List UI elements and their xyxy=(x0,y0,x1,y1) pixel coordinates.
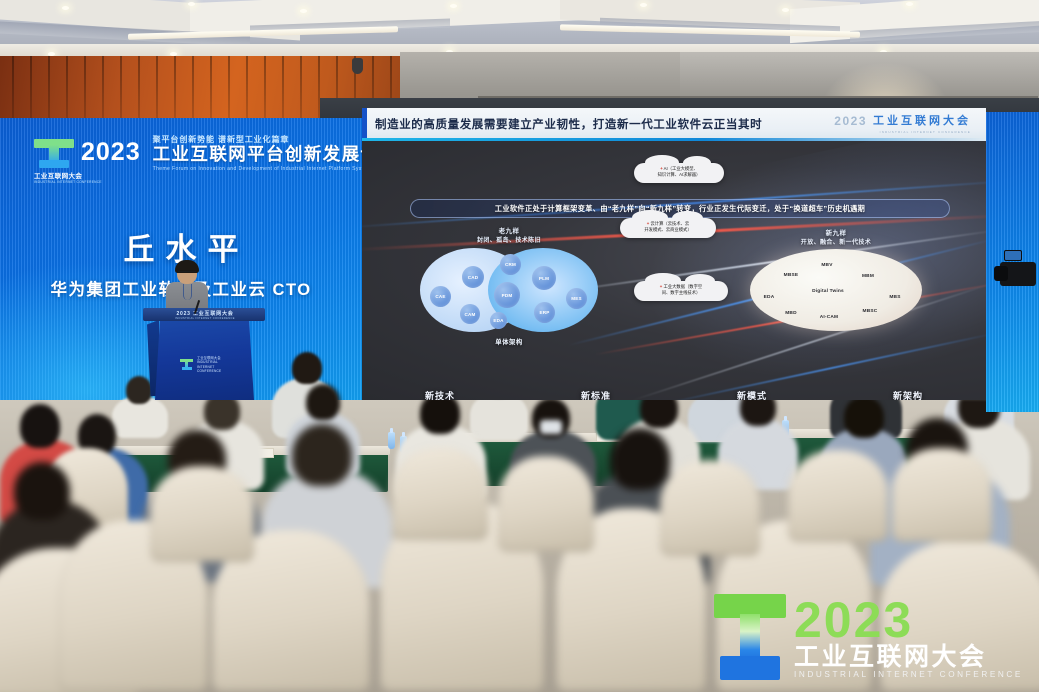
conference-watermark: 2023 工业互联网大会 INDUSTRIAL INTERNET CONFERE… xyxy=(714,594,1023,680)
bubble-plm: PLM xyxy=(532,266,556,290)
eyeglasses-icon xyxy=(178,271,196,275)
tag-digital-twins: Digital Twins xyxy=(812,289,844,295)
logo-en-text: INDUSTRIAL INTERNET CONFERENCE xyxy=(34,180,90,184)
bubble-cad: CAD xyxy=(462,266,484,288)
old-architecture-cluster: CAD CAE CAM EDA PDM CRM PLM MES ERP xyxy=(420,246,598,334)
watermark-year: 2023 xyxy=(794,598,913,642)
conference-logo-icon: 工业互联网大会 INDUSTRIAL INTERNET CONFERENCE xyxy=(34,137,74,169)
attendee-head xyxy=(306,384,340,420)
slide-logo-cn: 工业互联网大会 xyxy=(873,116,971,127)
bubble-mes: MES xyxy=(566,288,587,309)
bottom-tag-new-standard: 新标准 xyxy=(518,389,674,400)
old-architecture-label: 单体架构 xyxy=(420,337,598,346)
bubble-pdm: PDM xyxy=(494,282,520,308)
attendee-head xyxy=(844,396,884,438)
tag-mbd: MBD xyxy=(780,311,802,317)
callout-cloud-ai: + AI（工业大模型、 知识计算、AI求解器） xyxy=(634,163,724,183)
chair-back xyxy=(892,448,992,542)
chair-back xyxy=(150,466,254,562)
new-architecture-cluster: MBSE MBV MBM EDA Digital Twins MBS MBD A… xyxy=(750,249,922,331)
slide-title-bar: 制造业的高质量发展需要建立产业韧性，打造新一代工业软件云正当其时 2023 工业… xyxy=(362,108,986,140)
chair-back xyxy=(392,448,488,540)
bubble-crm: CRM xyxy=(500,254,521,275)
slide-bottom-tags: 新技术 新标准 新模式 新架构 xyxy=(362,389,986,400)
conference-logo-icon xyxy=(714,594,786,680)
downlight xyxy=(782,8,789,12)
chair-back xyxy=(660,460,760,556)
downlight xyxy=(450,4,457,8)
bottom-tag-new-model: 新模式 xyxy=(674,389,830,400)
watermark-en: INDUSTRIAL INTERNET CONFERENCE xyxy=(794,670,1023,680)
chair-back xyxy=(788,450,888,542)
water-bottle xyxy=(388,432,395,449)
bubble-cae: CAE xyxy=(430,286,451,307)
podium-logo-text: 工业互联网大会INDUSTRIALINTERNETCONFERENCE xyxy=(197,356,221,373)
bubble-cam: CAM xyxy=(460,304,480,324)
new-group-label-line2: 开放、融合、新一代技术 xyxy=(750,237,922,246)
podium-sign: 2023 工业互联网大会 INDUSTRIAL INTERNET CONFERE… xyxy=(169,310,241,320)
callout-bigdata-line2: 间、数字主线技术） xyxy=(662,290,701,295)
plus-icon: + xyxy=(647,221,650,226)
slide-accent-bar xyxy=(362,108,367,140)
podium: 2023 工业互联网大会 INDUSTRIAL INTERNET CONFERE… xyxy=(147,308,261,400)
video-camera xyxy=(1000,250,1039,296)
plus-icon: + xyxy=(660,166,663,171)
callout-cloud-line1: 云计算（云技术、云 xyxy=(651,221,690,226)
led-main-title: 工业互联网平台创新发展论坛 xyxy=(153,145,362,165)
tag-ai-cam: AI-CAM xyxy=(814,315,844,321)
new-group-label: 新九样 开放、融合、新一代技术 xyxy=(750,227,922,246)
chair-back xyxy=(498,456,594,552)
downlight xyxy=(906,2,913,6)
led-year: 2023 xyxy=(81,140,141,165)
tag-mbm: MBM xyxy=(856,274,880,280)
tag-mbse: MBSE xyxy=(778,273,804,279)
camera-lens-icon xyxy=(994,266,1008,281)
plus-icon: + xyxy=(660,284,663,289)
bottom-tag-new-arch: 新架构 xyxy=(830,389,986,400)
face-mask xyxy=(540,420,562,434)
presentation-slide: 制造业的高质量发展需要建立产业韧性，打造新一代工业软件云正当其时 2023 工业… xyxy=(362,108,986,400)
led-header: 工业互联网大会 INDUSTRIAL INTERNET CONFERENCE 2… xyxy=(34,134,362,172)
attendee-head xyxy=(20,404,60,448)
watermark-cn: 工业互联网大会 xyxy=(794,644,987,670)
callout-cloud-bigdata: + 工业大数据（数字空 间、数字主线技术） xyxy=(634,281,728,301)
downlight xyxy=(640,3,647,7)
podium-sign-en: INDUSTRIAL INTERNET CONFERENCE xyxy=(169,317,241,320)
slide-logo: 2023 工业互联网大会 INDUSTRIAL INTERNET CONFERE… xyxy=(834,115,971,127)
podium-logo: 工业互联网大会INDUSTRIALINTERNETCONFERENCE xyxy=(180,356,221,373)
slide-title: 制造业的高质量发展需要建立产业韧性，打造新一代工业软件云正当其时 xyxy=(375,116,762,132)
old-group-label-line1: 老九样 xyxy=(420,225,598,235)
downlight xyxy=(300,9,307,13)
lanyard xyxy=(183,284,192,300)
slide-canvas: 工业软件正处于计算框架变革、由“老九样”向“新九样”转变，行业正发生代际变迁，处… xyxy=(362,141,986,400)
conference-photo: 工业互联网大会 INDUSTRIAL INTERNET CONFERENCE 2… xyxy=(0,0,1039,692)
old-group-label: 老九样 封闭、孤岛、技术陈旧 xyxy=(420,225,598,244)
old-group-label-line2: 封闭、孤岛、技术陈旧 xyxy=(420,235,598,244)
new-group-label-line1: 新九样 xyxy=(750,227,922,237)
slide-logo-year: 2023 xyxy=(834,115,867,127)
tag-mbsc: MBSC xyxy=(858,309,882,315)
logo-cn-text: 工业互联网大会 xyxy=(34,170,90,180)
bubble-erp: ERP xyxy=(534,302,555,323)
ceiling-speaker xyxy=(352,58,363,74)
downlight xyxy=(188,2,195,6)
downlight xyxy=(62,6,69,10)
camera-monitor xyxy=(1004,250,1022,261)
callout-ai-line1: AI（工业大模型、 xyxy=(664,166,698,171)
callout-bigdata-line1: 工业大数据（数字空 xyxy=(664,284,703,289)
conference-logo-icon xyxy=(180,359,193,371)
callout-ai-line2: 知识计算、AI求解器） xyxy=(658,172,701,177)
attendee-head xyxy=(610,428,670,490)
led-english-title: Theme Forum on Innovation and Developmen… xyxy=(153,166,362,172)
tag-eda: EDA xyxy=(758,295,780,301)
attendee-head xyxy=(292,424,352,486)
callout-cloud-line2: 开发模式、云商业模式） xyxy=(644,227,691,232)
tag-mbv: MBV xyxy=(816,263,838,269)
attendee-head xyxy=(292,352,322,384)
bottom-tag-new-tech: 新技术 xyxy=(362,389,518,400)
slide-logo-en: INDUSTRIAL INTERNET CONFERENCE xyxy=(880,130,971,134)
podium-sign-cn: 2023 工业互联网大会 xyxy=(169,310,241,317)
callout-cloud-cloudcomputing: + 云计算（云技术、云 开发模式、云商业模式） xyxy=(620,218,716,238)
bubble-eda: EDA xyxy=(490,312,507,329)
tag-mbs: MBS xyxy=(884,295,906,301)
attendee-head xyxy=(14,462,70,520)
